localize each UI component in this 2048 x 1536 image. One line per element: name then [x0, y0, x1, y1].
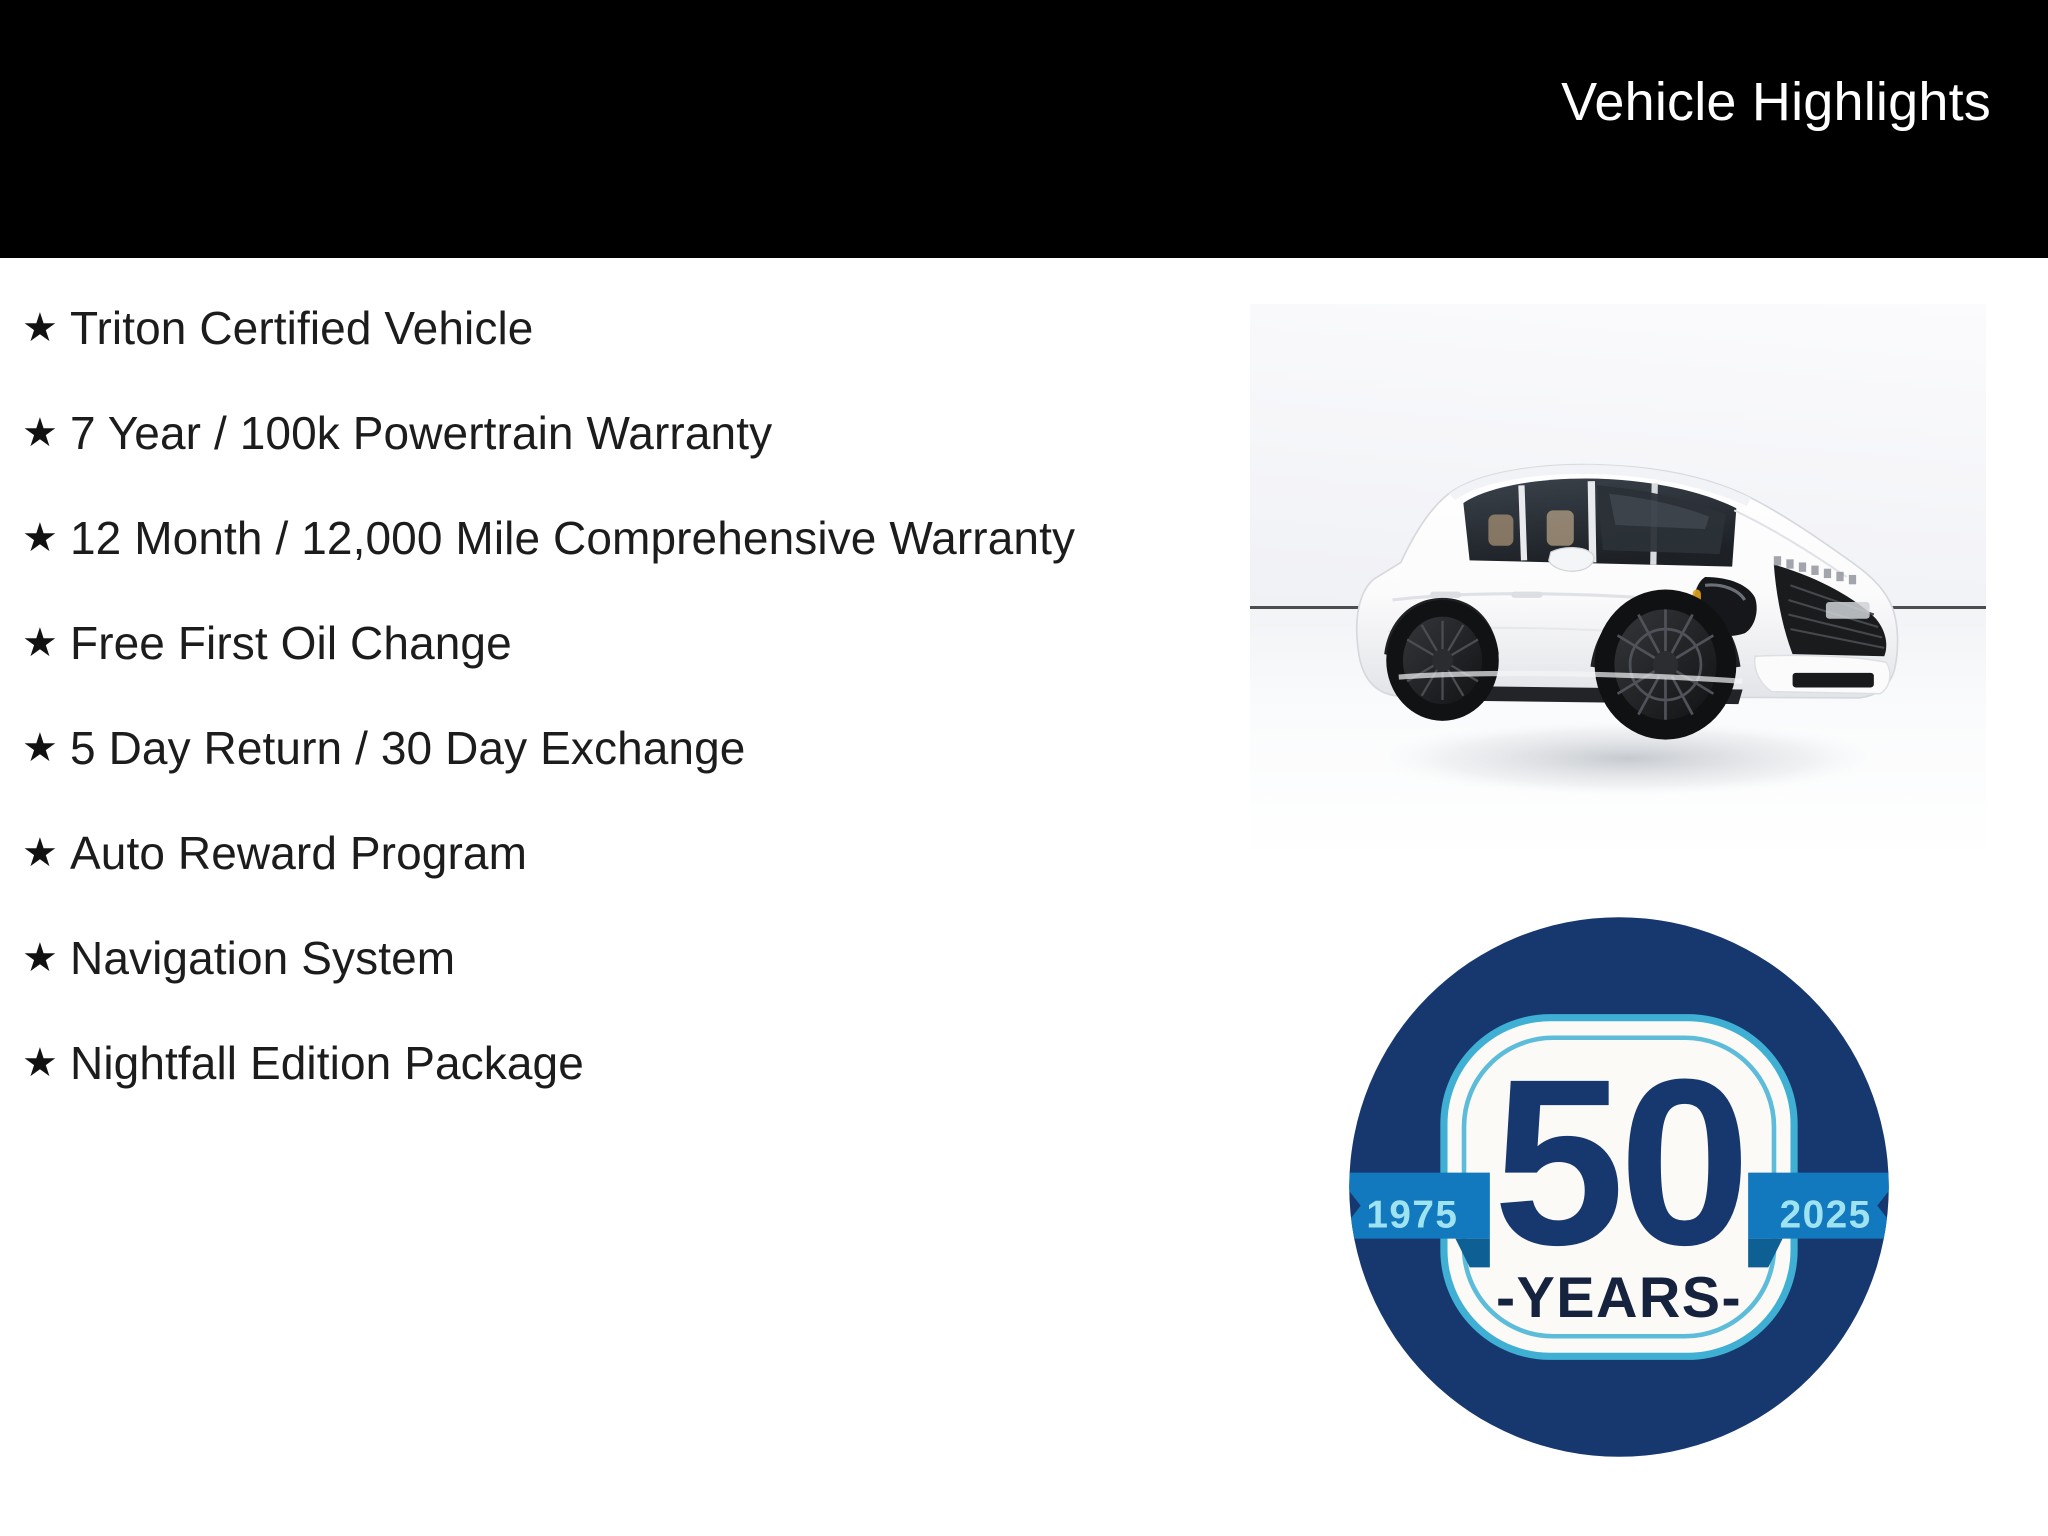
vehicle-photo [1250, 304, 1986, 864]
list-item-label: Free First Oil Change [70, 615, 1145, 671]
list-item-label: Navigation System [70, 930, 1145, 986]
badge-caption: -YEARS- [1496, 1266, 1742, 1330]
star-icon: ★ [22, 1035, 70, 1091]
anniversary-badge: 1975 2025 50 -YEARS- [1332, 900, 1906, 1474]
star-icon: ★ [22, 615, 70, 671]
list-item: ★ Navigation System [22, 930, 1230, 986]
highlights-list: ★ Triton Certified Vehicle ★ 7 Year / 10… [0, 258, 1230, 1536]
list-item: ★ Triton Certified Vehicle [22, 300, 1230, 356]
list-item: ★ Nightfall Edition Package [22, 1035, 1230, 1091]
list-item-label: 7 Year / 100k Powertrain Warranty [70, 405, 1145, 461]
star-icon: ★ [22, 720, 70, 776]
star-icon: ★ [22, 300, 70, 356]
star-icon: ★ [22, 930, 70, 986]
list-item: ★ 12 Month / 12,000 Mile Comprehensive W… [22, 510, 1230, 566]
list-item: ★ Auto Reward Program [22, 825, 1230, 881]
list-item-label: 12 Month / 12,000 Mile Comprehensive War… [70, 510, 1145, 566]
star-icon: ★ [22, 510, 70, 566]
suv-illustration [1279, 377, 1956, 825]
list-item: ★ Free First Oil Change [22, 615, 1230, 671]
badge-number: 50 [1493, 1031, 1745, 1295]
year-end-label: 2025 [1780, 1193, 1872, 1236]
list-item-label: 5 Day Return / 30 Day Exchange [70, 720, 1145, 776]
list-item: ★ 5 Day Return / 30 Day Exchange [22, 720, 1230, 776]
star-icon: ★ [22, 825, 70, 881]
list-item: ★ 7 Year / 100k Powertrain Warranty [22, 405, 1230, 461]
fifty-years-seal: 1975 2025 50 -YEARS- [1332, 900, 1906, 1474]
header-bar: Vehicle Highlights [0, 0, 2048, 258]
star-icon: ★ [22, 405, 70, 461]
page-title: Vehicle Highlights [1561, 73, 1991, 132]
vehicle-highlights-page: Vehicle Highlights ★ Triton Certified Ve… [0, 0, 2048, 1536]
year-start-label: 1975 [1366, 1193, 1458, 1236]
list-item-label: Nightfall Edition Package [70, 1035, 1145, 1091]
list-item-label: Auto Reward Program [70, 825, 1145, 881]
right-column: 1975 2025 50 -YEARS- [1232, 258, 2048, 1536]
list-item-label: Triton Certified Vehicle [70, 300, 1145, 356]
